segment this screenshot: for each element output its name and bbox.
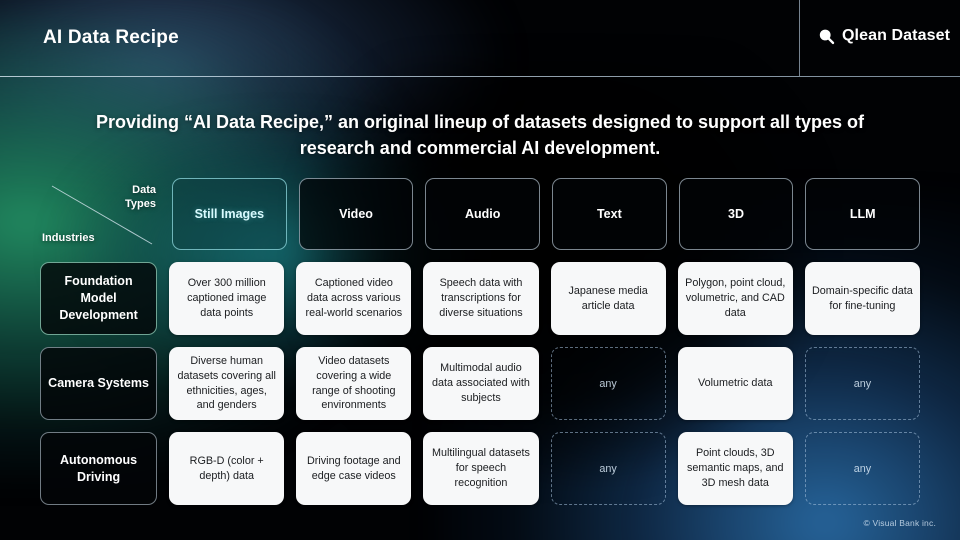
axis-label-industries: Industries xyxy=(42,232,95,244)
slide-root: AI Data Recipe Qlean Dataset Providing “… xyxy=(0,0,960,540)
headline: Providing “AI Data Recipe,” an original … xyxy=(60,110,900,161)
matrix-header-row: Data Types Industries Still Images Video… xyxy=(40,178,920,250)
matrix-cell-foundation-3d[interactable]: Polygon, point cloud, volumetric, and CA… xyxy=(678,262,793,335)
matrix-row-camera-systems: Camera Systems Diverse human datasets co… xyxy=(40,347,920,420)
matrix-cell-autonomous-video[interactable]: Driving footage and edge case videos xyxy=(296,432,411,505)
axis-label-data-types: Data Types xyxy=(125,184,156,212)
matrix-cell-autonomous-text[interactable]: any xyxy=(551,432,666,505)
page-title: AI Data Recipe xyxy=(43,27,179,49)
matrix-cell-foundation-llm[interactable]: Domain-specific data for fine-tuning xyxy=(805,262,920,335)
column-header-video[interactable]: Video xyxy=(299,178,414,250)
column-header-3d[interactable]: 3D xyxy=(679,178,794,250)
brand-logo: Qlean Dataset xyxy=(818,27,950,45)
matrix-cell-camera-video[interactable]: Video datasets covering a wide range of … xyxy=(296,347,411,420)
matrix-cell-camera-text[interactable]: any xyxy=(551,347,666,420)
brand-name: Qlean Dataset xyxy=(842,27,950,45)
matrix-cell-autonomous-llm[interactable]: any xyxy=(805,432,920,505)
matrix-cell-autonomous-audio[interactable]: Multilingual datasets for speech recogni… xyxy=(423,432,538,505)
column-header-audio[interactable]: Audio xyxy=(425,178,540,250)
matrix-cell-foundation-text[interactable]: Japanese media article data xyxy=(551,262,666,335)
matrix-row-foundation-model-development: Foundation Model Development Over 300 mi… xyxy=(40,262,920,335)
footer-copyright: © Visual Bank inc. xyxy=(863,518,936,528)
topbar-divider xyxy=(799,0,800,76)
matrix-cell-autonomous-3d[interactable]: Point clouds, 3D semantic maps, and 3D m… xyxy=(678,432,793,505)
matrix-cell-camera-still-images[interactable]: Diverse human datasets covering all ethn… xyxy=(169,347,284,420)
matrix-cell-foundation-video[interactable]: Captioned video data across various real… xyxy=(296,262,411,335)
magnifier-icon xyxy=(818,28,835,45)
column-header-still-images[interactable]: Still Images xyxy=(172,178,287,250)
row-label-autonomous-driving[interactable]: Autonomous Driving xyxy=(40,432,157,505)
matrix-row-autonomous-driving: Autonomous Driving RGB-D (color + depth)… xyxy=(40,432,920,505)
matrix-axis-corner: Data Types Industries xyxy=(40,178,160,250)
matrix-cell-autonomous-still-images[interactable]: RGB-D (color + depth) data xyxy=(169,432,284,505)
data-matrix: Data Types Industries Still Images Video… xyxy=(40,178,920,505)
top-bar: AI Data Recipe Qlean Dataset xyxy=(0,0,960,77)
matrix-cell-foundation-audio[interactable]: Speech data with transcriptions for dive… xyxy=(423,262,538,335)
row-label-camera-systems[interactable]: Camera Systems xyxy=(40,347,157,420)
row-label-foundation-model-development[interactable]: Foundation Model Development xyxy=(40,262,157,335)
matrix-cell-camera-3d[interactable]: Volumetric data xyxy=(678,347,793,420)
matrix-cell-foundation-still-images[interactable]: Over 300 million captioned image data po… xyxy=(169,262,284,335)
column-header-text[interactable]: Text xyxy=(552,178,667,250)
column-header-llm[interactable]: LLM xyxy=(805,178,920,250)
matrix-cell-camera-llm[interactable]: any xyxy=(805,347,920,420)
matrix-cell-camera-audio[interactable]: Multimodal audio data associated with su… xyxy=(423,347,538,420)
topbar-rule xyxy=(0,76,960,77)
